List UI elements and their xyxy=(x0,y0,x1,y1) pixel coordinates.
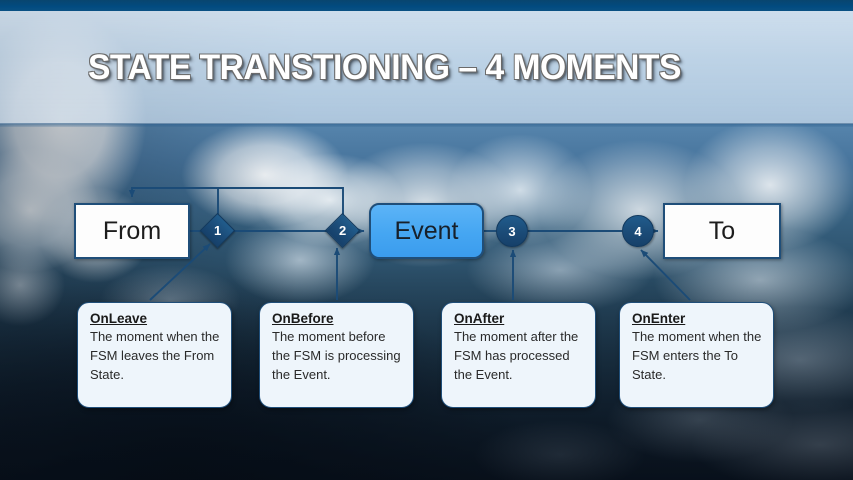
callout-onenter-body: The moment when the FSM enters the To St… xyxy=(632,327,763,385)
moment-marker-3-label: 3 xyxy=(508,224,515,239)
callout-onafter[interactable]: OnAfter The moment after the FSM has pro… xyxy=(441,302,596,408)
callout-onleave-body: The moment when the FSM leaves the From … xyxy=(90,327,221,385)
callout-onbefore-title: OnBefore xyxy=(272,311,403,326)
state-node-event-label: Event xyxy=(395,217,459,246)
moment-marker-1-label: 1 xyxy=(214,223,221,238)
state-node-from-label: From xyxy=(103,217,161,246)
state-node-from[interactable]: From xyxy=(74,203,190,259)
moment-marker-2-label: 2 xyxy=(339,223,346,238)
moment-marker-4-label: 4 xyxy=(634,224,641,239)
state-node-to-label: To xyxy=(709,217,735,246)
callout-onenter[interactable]: OnEnter The moment when the FSM enters t… xyxy=(619,302,774,408)
state-transition-diagram: From Event To 1 2 3 4 OnLeave The moment… xyxy=(0,0,853,480)
slide-canvas: STATE TRANSTIONING – 4 MOMENTS xyxy=(0,0,853,480)
callout-onenter-title: OnEnter xyxy=(632,311,763,326)
callout-onbefore[interactable]: OnBefore The moment before the FSM is pr… xyxy=(259,302,414,408)
state-node-event[interactable]: Event xyxy=(369,203,484,259)
callout-onafter-title: OnAfter xyxy=(454,311,585,326)
callout-onafter-body: The moment after the FSM has processed t… xyxy=(454,327,585,385)
state-node-to[interactable]: To xyxy=(663,203,781,259)
callout-onleave[interactable]: OnLeave The moment when the FSM leaves t… xyxy=(77,302,232,408)
callout-onleave-title: OnLeave xyxy=(90,311,221,326)
moment-marker-3[interactable]: 3 xyxy=(496,215,528,247)
moment-marker-4[interactable]: 4 xyxy=(622,215,654,247)
callout-onbefore-body: The moment before the FSM is processing … xyxy=(272,327,403,385)
